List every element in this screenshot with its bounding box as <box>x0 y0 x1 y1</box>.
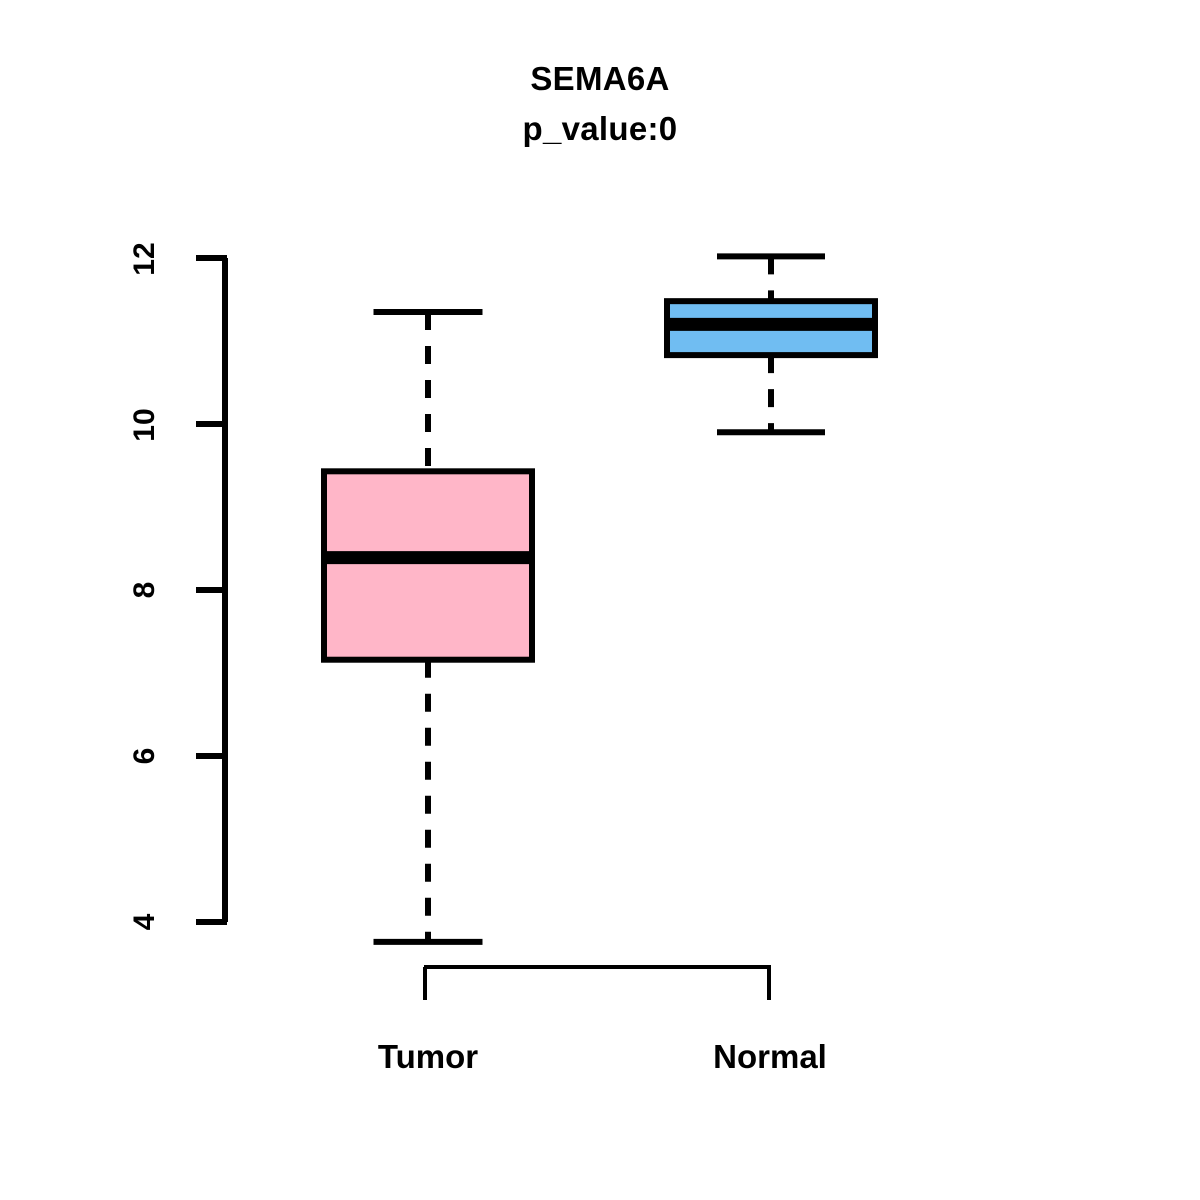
x-axis <box>424 967 771 1000</box>
boxplot-figure: SEMA6A p_value:0 Gene Expression Level (… <box>0 0 1200 1200</box>
y-axis <box>196 258 227 922</box>
tumor-box-iqr[interactable] <box>324 471 532 659</box>
box-normal[interactable] <box>667 256 875 432</box>
box-tumor[interactable] <box>324 312 532 942</box>
plot-canvas <box>0 0 1200 1200</box>
